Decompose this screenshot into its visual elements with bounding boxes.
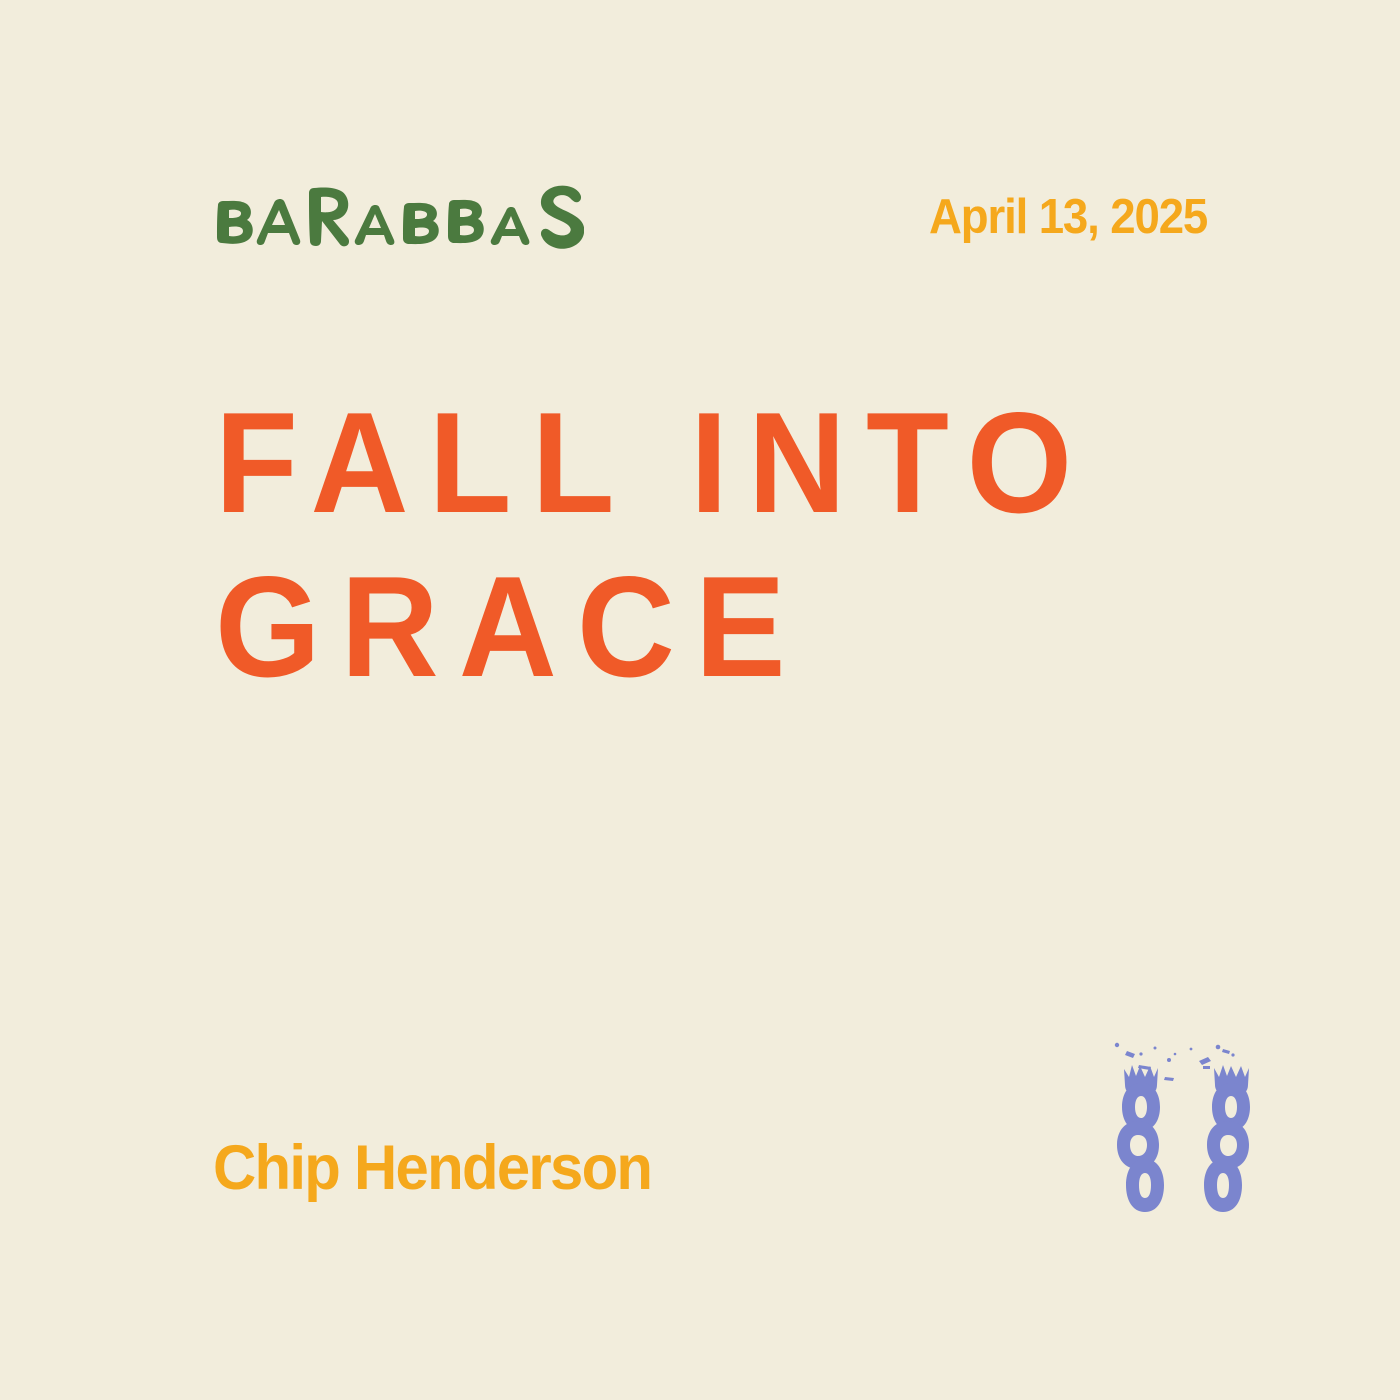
barabbas-logo bbox=[212, 183, 584, 263]
title-line-2: GRACE bbox=[215, 545, 1339, 711]
event-date: April 13, 2025 bbox=[929, 193, 1207, 242]
broken-chains-icon bbox=[1105, 1025, 1270, 1230]
poster-canvas: April 13, 2025 FALL INTO GRACE Chip Hend… bbox=[0, 0, 1400, 1400]
title-line-1: FALL INTO bbox=[215, 381, 1339, 547]
poster-header: April 13, 2025 bbox=[0, 183, 1400, 278]
speaker-name: Chip Henderson bbox=[213, 1134, 651, 1203]
sermon-title: FALL INTO GRACE bbox=[215, 381, 1275, 693]
broken-chains-svg bbox=[1105, 1025, 1270, 1230]
